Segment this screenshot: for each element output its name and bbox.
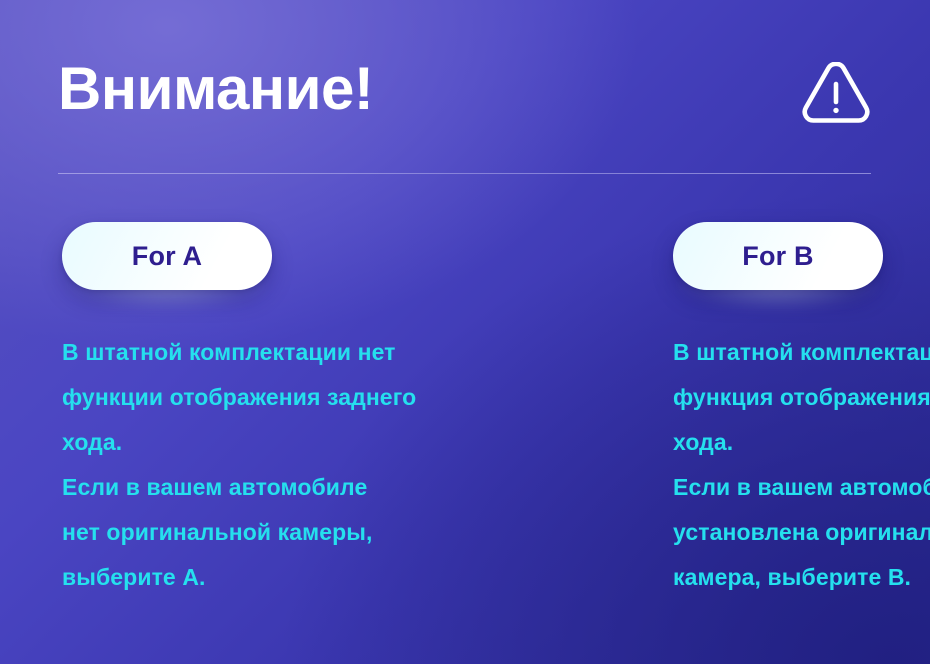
- for-a-button-wrap: For A: [62, 222, 272, 290]
- description-line: функции отображения заднего: [62, 375, 447, 420]
- option-a-description: В штатной комплектации нет функции отобр…: [62, 330, 447, 600]
- page-title: Внимание!: [58, 46, 373, 132]
- for-a-button[interactable]: For A: [62, 222, 272, 290]
- option-column-b: For B В штатной комплектации есть функци…: [673, 222, 930, 600]
- option-column-a: For A В штатной комплектации нет функции…: [62, 222, 447, 600]
- description-line: Если в вашем автомобиле: [62, 465, 447, 510]
- warning-triangle-icon: [802, 62, 870, 124]
- for-b-button-label: For B: [742, 243, 814, 270]
- description-line: установлена оригинальная: [673, 510, 930, 555]
- description-line: выберите А.: [62, 555, 447, 600]
- description-line: Если в вашем автомобиле: [673, 465, 930, 510]
- description-line: камера, выберите B.: [673, 555, 930, 600]
- description-line: В штатной комплектации нет: [62, 330, 447, 375]
- description-line: хода.: [62, 420, 447, 465]
- for-a-button-label: For A: [132, 243, 203, 270]
- header-divider: [58, 173, 871, 174]
- description-line: В штатной комплектации есть: [673, 330, 930, 375]
- description-line: функция отображения заднего: [673, 375, 930, 420]
- for-b-button-wrap: For B: [673, 222, 883, 290]
- option-b-description: В штатной комплектации есть функция отоб…: [673, 330, 930, 600]
- options-container: For A В штатной комплектации нет функции…: [62, 222, 890, 600]
- description-line: хода.: [673, 420, 930, 465]
- description-line: нет оригинальной камеры,: [62, 510, 447, 555]
- banner-header: Внимание!: [58, 46, 870, 138]
- warning-banner: Внимание! For A В штатной комплектации н…: [0, 0, 930, 664]
- for-b-button[interactable]: For B: [673, 222, 883, 290]
